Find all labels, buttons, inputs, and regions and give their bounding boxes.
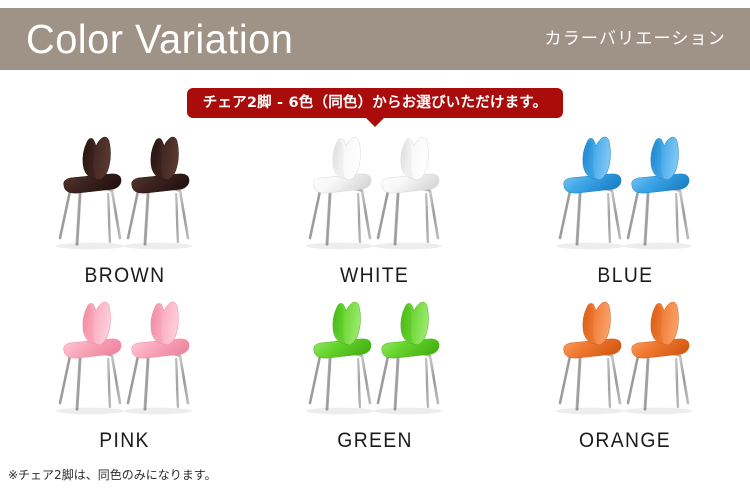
chair-pair-image-pink xyxy=(20,299,230,424)
page-title: Color Variation xyxy=(26,19,293,60)
page-subtitle-japanese: カラーバリエーション xyxy=(545,31,727,48)
ribbon-banner-container: チェア2脚 - 6色（同色）からお選びいただけます。 xyxy=(0,88,750,128)
chair-pair-image-brown xyxy=(20,134,230,259)
color-variation-item-white[interactable]: WHITE xyxy=(250,134,500,299)
color-variation-item-brown[interactable]: BROWN xyxy=(0,134,250,299)
ribbon-banner: チェア2脚 - 6色（同色）からお選びいただけます。 xyxy=(187,88,564,118)
color-variation-item-orange[interactable]: ORANGE xyxy=(500,299,750,464)
footnote-text: ※チェア2脚は、同色のみになります。 xyxy=(8,469,217,481)
chair-pair-image-blue xyxy=(520,134,730,259)
color-label: GREEN xyxy=(337,430,413,451)
color-variation-page: Color Variation カラーバリエーション チェア2脚 - 6色（同色… xyxy=(0,0,750,489)
color-label: ORANGE xyxy=(579,430,671,451)
color-label: WHITE xyxy=(340,265,409,286)
color-variation-item-blue[interactable]: BLUE xyxy=(500,134,750,299)
color-label: BLUE xyxy=(597,265,653,286)
chair-pair-image-white xyxy=(270,134,480,259)
color-variation-item-pink[interactable]: PINK xyxy=(0,299,250,464)
chair-pair-image-orange xyxy=(520,299,730,424)
ribbon-banner-text: チェア2脚 - 6色（同色）からお選びいただけます。 xyxy=(203,96,548,111)
ribbon-tail-triangle xyxy=(366,118,384,127)
color-label: PINK xyxy=(100,430,151,451)
color-label: BROWN xyxy=(85,265,166,286)
color-variation-grid: BROWN xyxy=(0,134,750,464)
header-bar: Color Variation カラーバリエーション xyxy=(0,8,750,70)
chair-pair-image-green xyxy=(270,299,480,424)
color-variation-item-green[interactable]: GREEN xyxy=(250,299,500,464)
